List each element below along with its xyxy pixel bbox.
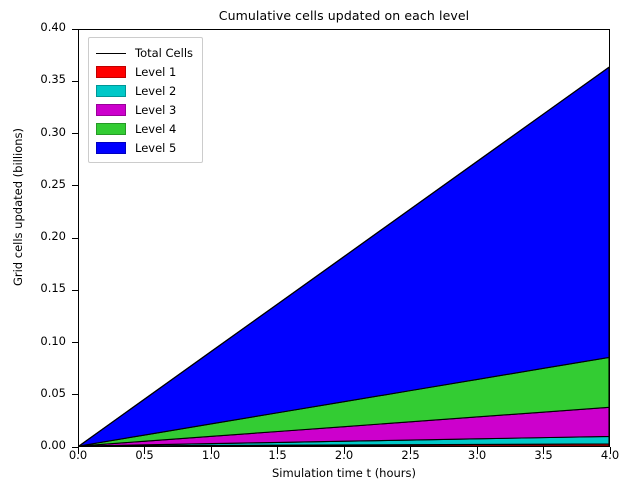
legend-item-label: Level 3	[135, 103, 176, 117]
x-tick-mark	[543, 447, 544, 454]
chart-title: Cumulative cells updated on each level	[78, 8, 610, 23]
x-tick-mark	[477, 447, 478, 454]
y-tick-label: 0.35	[0, 74, 66, 86]
x-tick-mark	[610, 447, 611, 454]
x-tick-mark	[144, 447, 145, 454]
legend-item-level-3[interactable]: Level 3	[96, 100, 193, 119]
x-tick-mark	[78, 447, 79, 454]
legend-item-label: Level 1	[135, 65, 176, 79]
x-axis-label: Simulation time t (hours)	[78, 466, 610, 480]
chart-figure: Cumulative cells updated on each level G…	[0, 0, 640, 480]
legend-item-label: Level 2	[135, 84, 176, 98]
x-tick-mark	[410, 447, 411, 454]
legend-item-level-1[interactable]: Level 1	[96, 62, 193, 81]
legend-swatch-icon	[96, 66, 126, 78]
legend-item-level-5[interactable]: Level 5	[96, 138, 193, 157]
chart-legend: Total CellsLevel 1Level 2Level 3Level 4L…	[88, 37, 203, 163]
y-tick-label: 0.25	[0, 179, 66, 191]
y-tick-label: 0.10	[0, 336, 66, 348]
legend-swatch-icon	[96, 123, 126, 135]
legend-item-label: Level 4	[135, 122, 176, 136]
legend-item-label: Level 5	[135, 141, 176, 155]
legend-item-label: Total Cells	[135, 46, 193, 60]
legend-item-level-2[interactable]: Level 2	[96, 81, 193, 100]
x-tick-mark	[277, 447, 278, 454]
y-tick-label: 0.40	[0, 22, 66, 34]
legend-item-total-cells[interactable]: Total Cells	[96, 43, 193, 62]
x-tick-mark	[211, 447, 212, 454]
legend-item-level-4[interactable]: Level 4	[96, 119, 193, 138]
y-tick-label: 0.05	[0, 388, 66, 400]
y-tick-label: 0.20	[0, 231, 66, 243]
y-tick-label: 0.15	[0, 283, 66, 295]
y-axis-label: Grid cells updated (billions)	[11, 0, 25, 417]
legend-swatch-icon	[96, 142, 126, 154]
y-tick-label: 0.30	[0, 127, 66, 139]
x-tick-mark	[344, 447, 345, 454]
legend-line-icon	[96, 47, 126, 59]
legend-swatch-icon	[96, 104, 126, 116]
legend-swatch-icon	[96, 85, 126, 97]
